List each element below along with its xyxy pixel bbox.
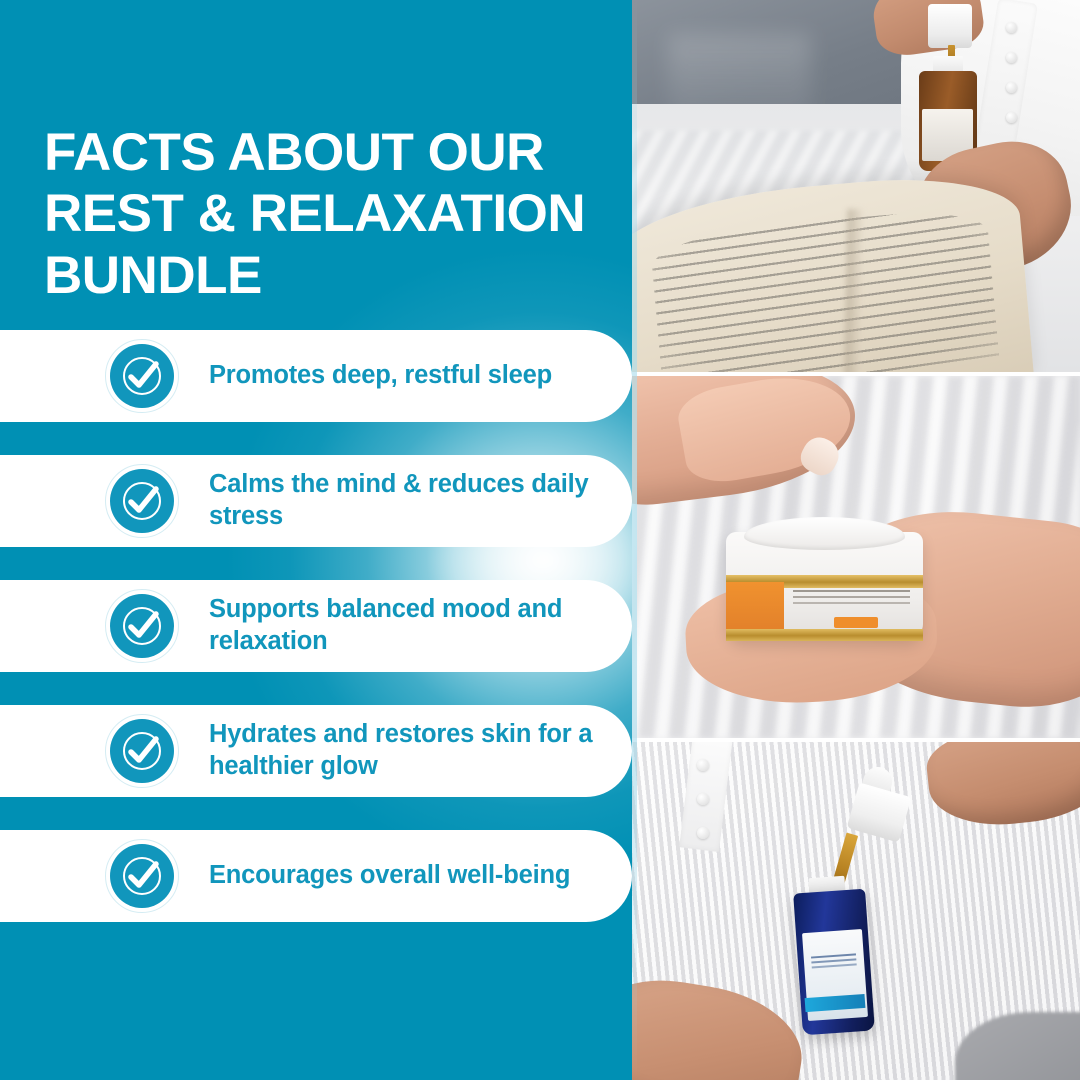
check-circle-icon [105, 464, 179, 538]
benefit-label: Encourages overall well-being [209, 860, 570, 892]
page-title-line-3: BUNDLE [44, 245, 604, 306]
benefit-item: Promotes deep, restful sleep [0, 330, 632, 422]
book-spine [844, 209, 864, 372]
photo-blue-cbd-tincture [632, 742, 1080, 1080]
shirt-button [697, 827, 709, 839]
check-circle-glyph [110, 594, 174, 658]
jar-lid [744, 517, 905, 550]
check-circle-glyph [110, 344, 174, 408]
infographic-canvas: FACTS ABOUT OUR REST & RELAXATION BUNDLE… [0, 0, 1080, 1080]
jar-gold-band-bottom [726, 629, 923, 641]
check-circle-glyph [110, 719, 174, 783]
shirt-button [1006, 112, 1017, 123]
page-title-line-2: REST & RELAXATION [44, 183, 604, 244]
check-circle-glyph [110, 844, 174, 908]
benefit-label: Promotes deep, restful sleep [209, 360, 552, 392]
check-circle-icon [105, 714, 179, 788]
shirt-button [697, 793, 709, 805]
page-title-line-1: FACTS ABOUT OUR [44, 122, 604, 183]
page-title: FACTS ABOUT OUR REST & RELAXATION BUNDLE [44, 122, 604, 306]
check-circle-glyph [110, 469, 174, 533]
benefit-label: Supports balanced mood and relaxation [209, 594, 599, 657]
benefit-item: Calms the mind & reduces daily stress [0, 455, 632, 547]
shirt-button [697, 759, 709, 771]
benefit-list: Promotes deep, restful sleep Calms the m… [0, 330, 640, 922]
check-circle-icon [105, 589, 179, 663]
book-text-lines [650, 206, 1001, 372]
check-circle-icon [105, 839, 179, 913]
photo-1-scene [632, 0, 1080, 372]
photo-cream-jar-in-hands [632, 376, 1080, 738]
benefit-label: Calms the mind & reduces daily stress [209, 469, 599, 532]
photo-2-scene [632, 376, 1080, 738]
jar-label-text [793, 590, 909, 592]
benefit-label: Hydrates and restores skin for a healthi… [209, 719, 599, 782]
jar-mg-badge [834, 617, 879, 629]
photo-3-scene [632, 742, 1080, 1080]
jar-orange-panel [726, 582, 784, 633]
photo-column-edge-glow [632, 0, 637, 1080]
dropper-cap [928, 4, 973, 49]
benefit-item: Supports balanced mood and relaxation [0, 580, 632, 672]
photo-tincture-bottle-with-book [632, 0, 1080, 372]
benefit-item: Hydrates and restores skin for a healthi… [0, 705, 632, 797]
benefit-item: Encourages overall well-being [0, 830, 632, 922]
photo-column [632, 0, 1080, 1080]
check-circle-icon [105, 339, 179, 413]
